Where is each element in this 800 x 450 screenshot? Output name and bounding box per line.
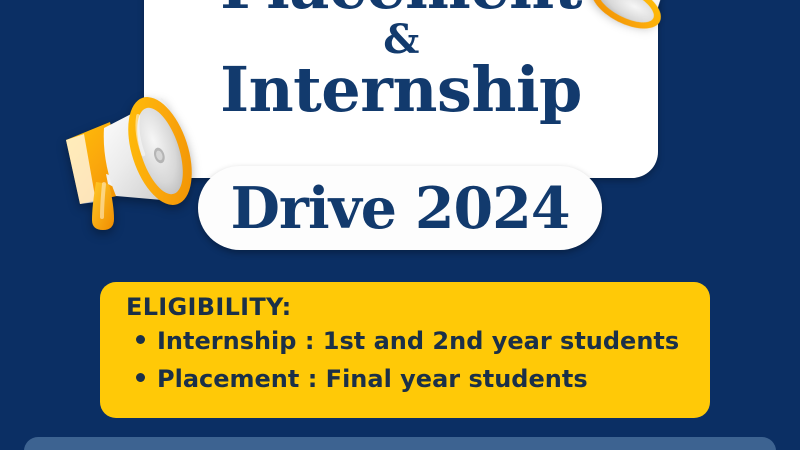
eligibility-item-text: Internship : 1st and 2nd year students [157,323,679,360]
drive-year-pill: Drive 2024 [198,166,602,250]
poster-canvas: Placement & Internship Drive 2024 [0,0,800,450]
eligibility-heading: ELIGIBILITY: [126,294,710,320]
title-line-placement: Placement [220,0,582,17]
megaphone-icon [44,78,204,238]
list-item: Placement : Final year students [136,361,710,398]
title-line-internship: Internship [220,61,582,120]
eligibility-list: Internship : 1st and 2nd year students P… [126,323,710,397]
bullet-icon [136,335,145,344]
eligibility-box: ELIGIBILITY: Internship : 1st and 2nd ye… [100,282,710,418]
title-card: Placement & Internship [144,0,658,178]
bullet-icon [136,373,145,382]
bottom-info-strip [24,437,776,450]
eligibility-item-text: Placement : Final year students [157,361,588,398]
title-card-content: Placement & Internship [144,0,658,178]
list-item: Internship : 1st and 2nd year students [136,323,710,360]
drive-year-label: Drive 2024 [231,180,570,237]
